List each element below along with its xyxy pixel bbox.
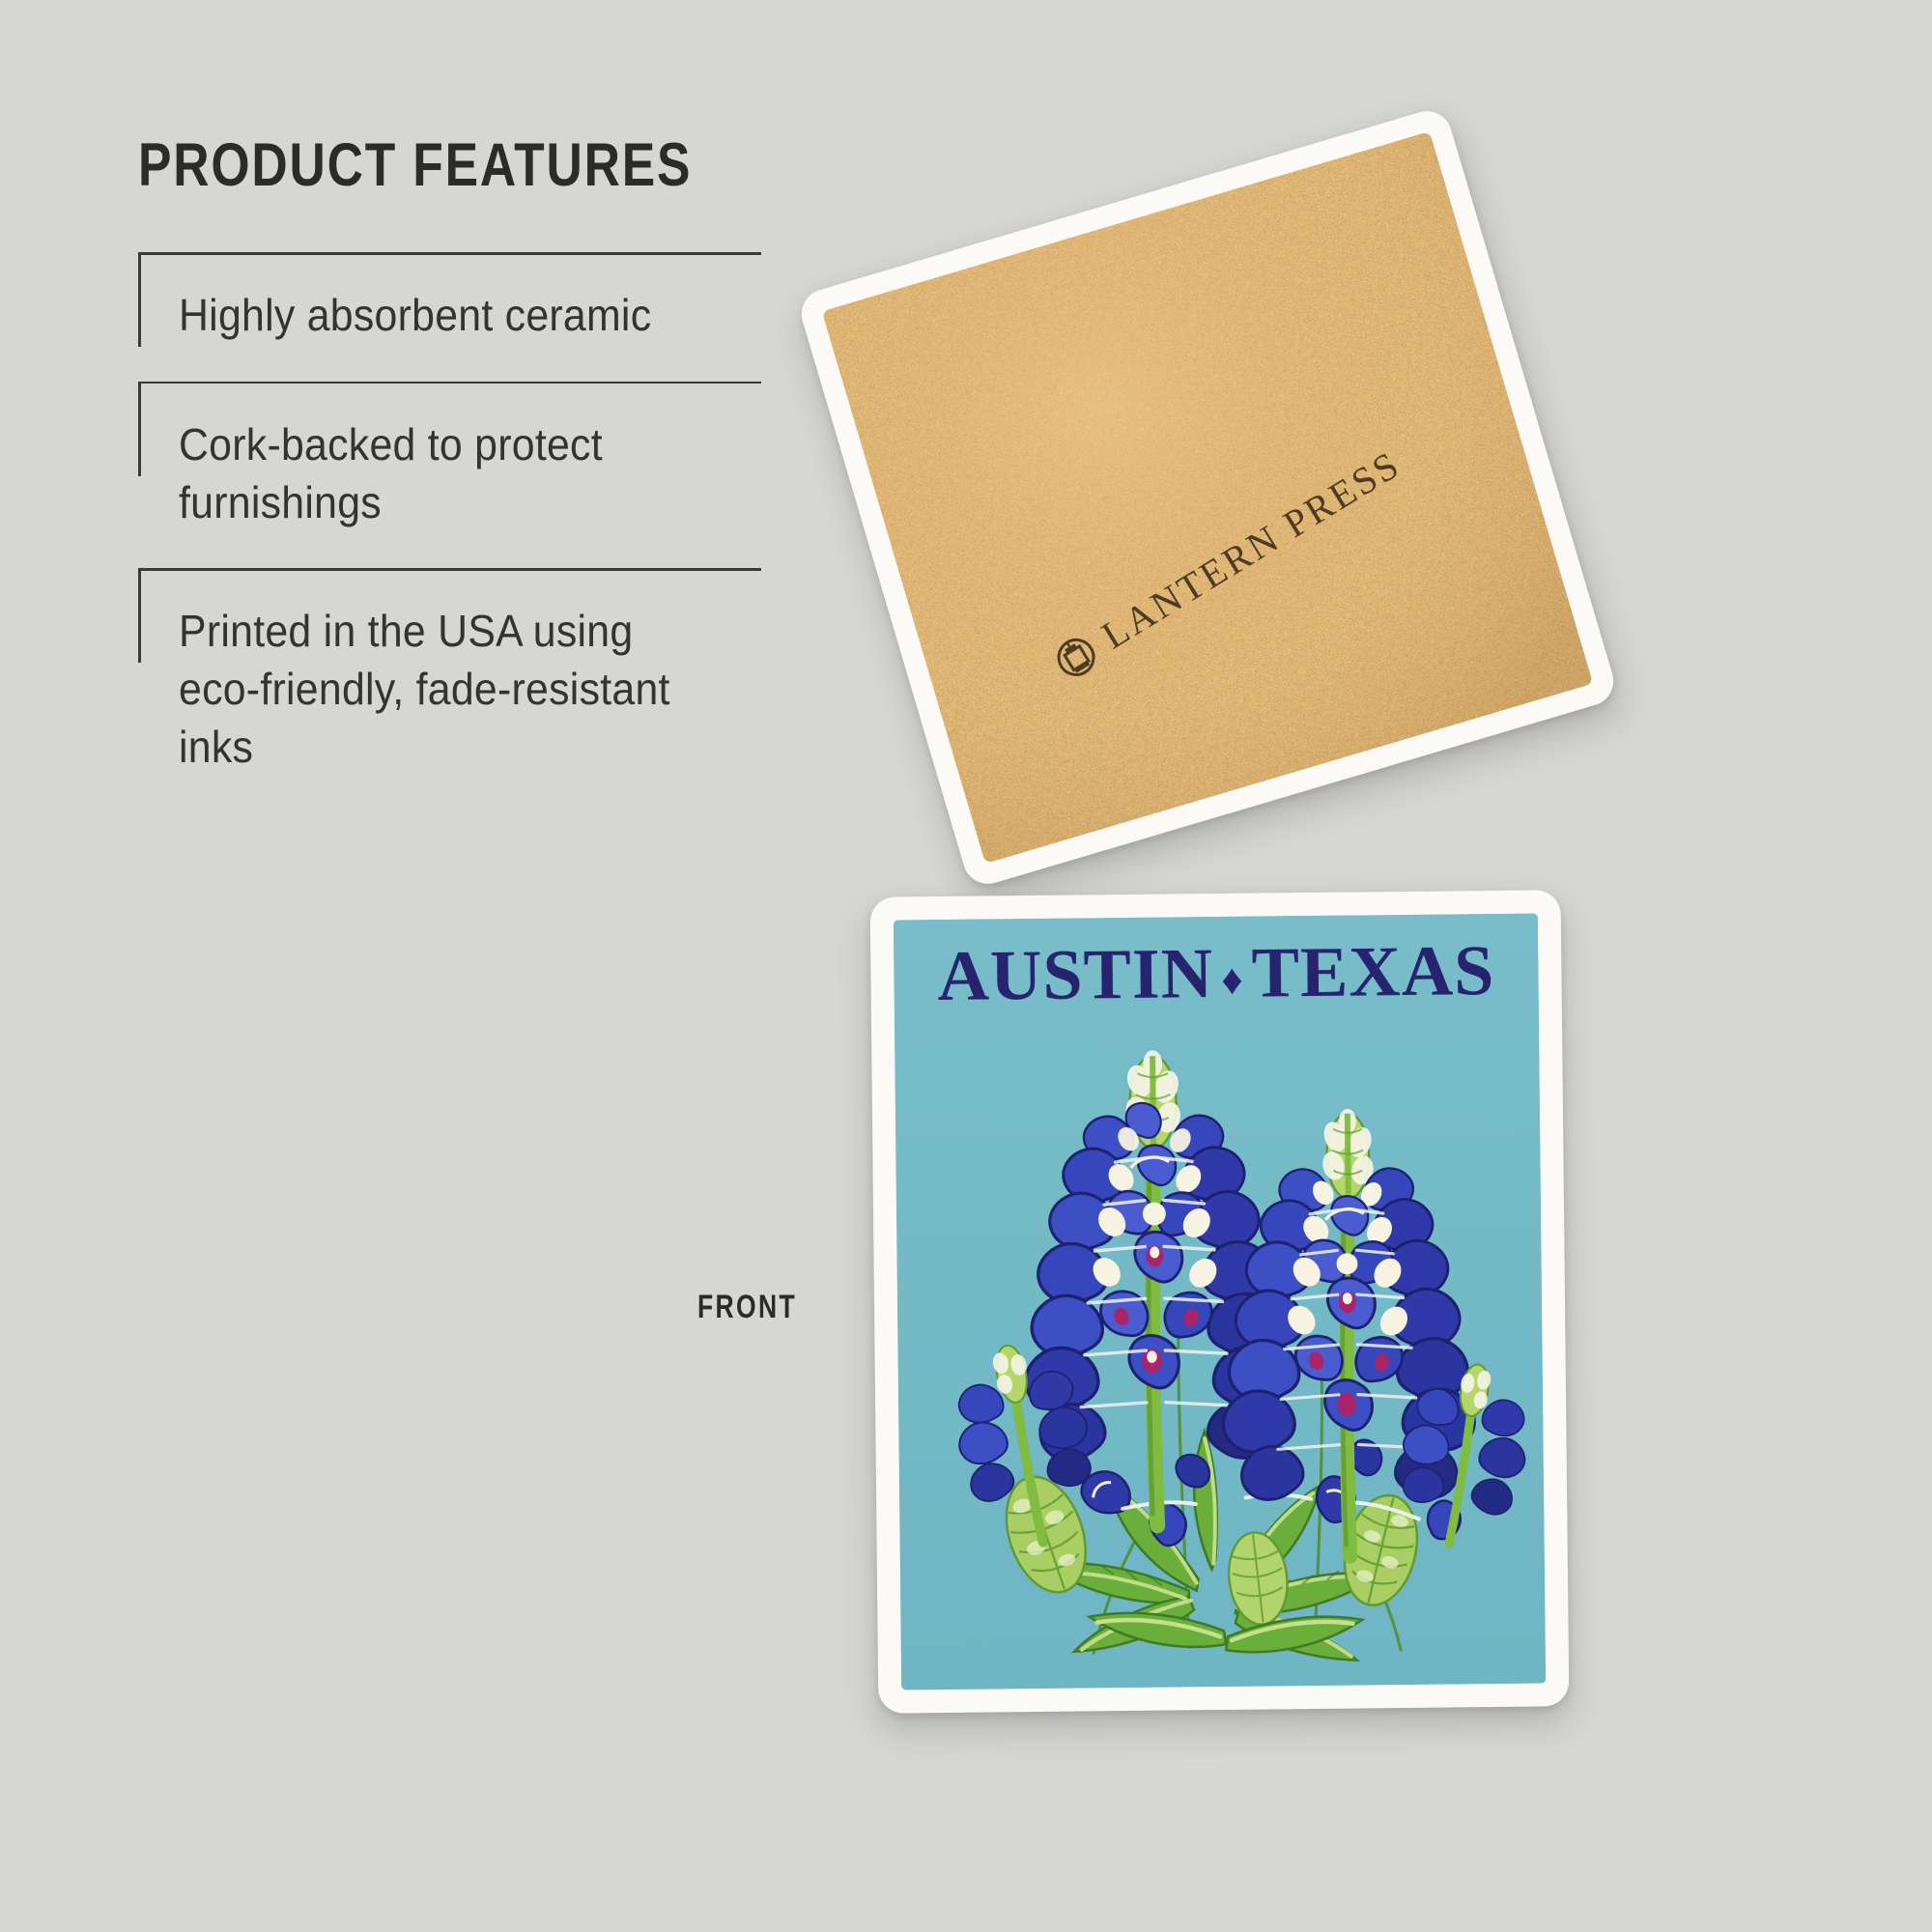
coaster-back-view: LANTERN PRESS <box>796 105 1620 890</box>
feature-list: Highly absorbent ceramic Cork-backed to … <box>138 252 776 777</box>
front-label: FRONT <box>697 1289 797 1326</box>
artwork-title-state: TEXAS <box>1251 931 1495 1013</box>
product-features-panel: PRODUCT FEATURES Highly absorbent cerami… <box>138 135 776 777</box>
printed-artwork: AUSTIN♦TEXAS <box>894 914 1546 1690</box>
page-title: PRODUCT FEATURES <box>138 135 661 196</box>
bracket-tick <box>138 568 141 663</box>
artwork-title-city: AUSTIN <box>937 934 1213 1016</box>
title-separator-icon: ♦ <box>1213 956 1252 1004</box>
bracket-tick <box>138 252 141 347</box>
feature-text: Printed in the USA using eco-friendly, f… <box>179 568 682 776</box>
artwork-title: AUSTIN♦TEXAS <box>894 935 1539 1013</box>
bluebonnet-illustration <box>894 914 1546 1690</box>
feature-text: Cork-backed to protect furnishings <box>179 382 682 532</box>
bracket-tick <box>138 382 141 476</box>
coaster-front-view: AUSTIN♦TEXAS <box>870 890 1570 1713</box>
feature-text: Highly absorbent ceramic <box>179 252 682 345</box>
list-item: Cork-backed to protect furnishings <box>138 382 776 532</box>
product-feature-graphic: PRODUCT FEATURES Highly absorbent cerami… <box>0 0 1932 1932</box>
list-item: Printed in the USA using eco-friendly, f… <box>138 568 776 776</box>
list-item: Highly absorbent ceramic <box>138 252 776 345</box>
